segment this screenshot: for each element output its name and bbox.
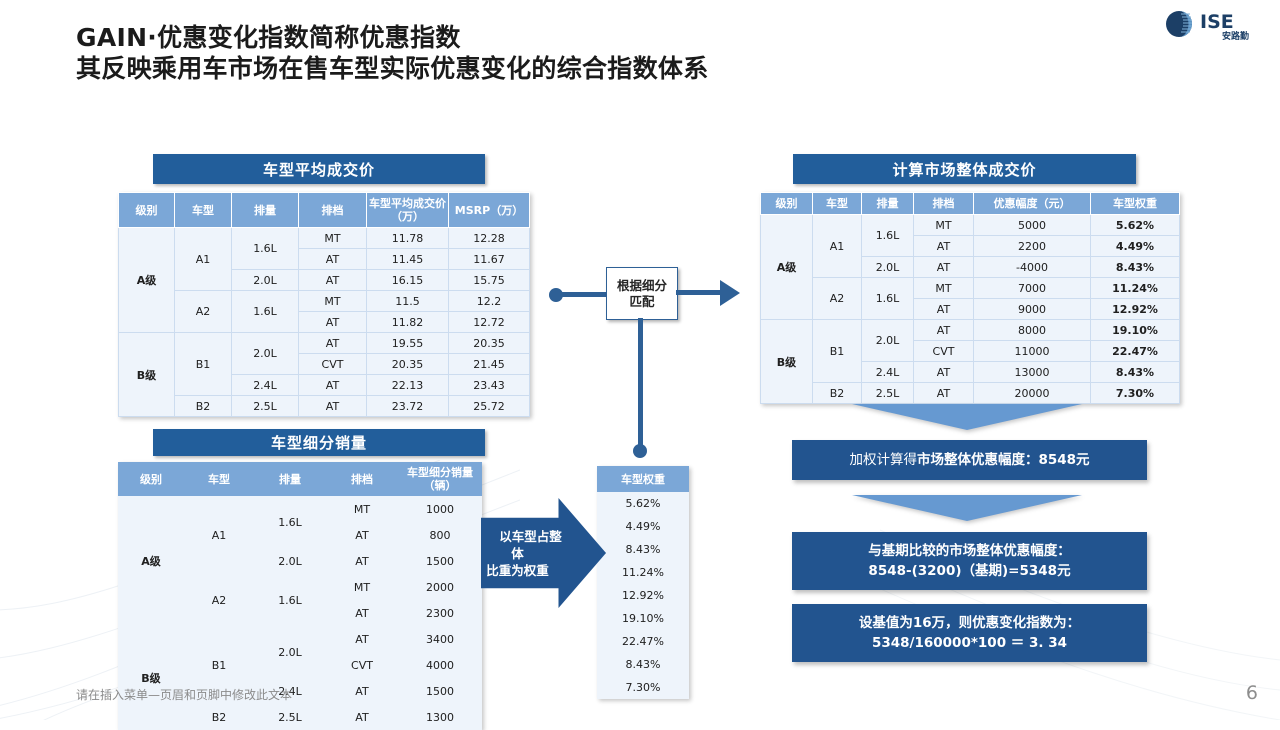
cell-gear: AT bbox=[326, 678, 398, 704]
title-line-1: GAIN·优惠变化指数简称优惠指数 bbox=[76, 23, 461, 52]
result-1-text-normal: 加权计算得 bbox=[849, 452, 917, 468]
cell-model: A1 bbox=[184, 496, 254, 574]
cell-gear: MT bbox=[914, 278, 974, 299]
col-level: 级别 bbox=[119, 193, 175, 228]
cell-weight: 8.43% bbox=[597, 538, 689, 561]
cell-gear: AT bbox=[299, 249, 367, 270]
match-rule-line1: 根据细分 bbox=[617, 278, 667, 293]
cell-sales: 1300 bbox=[398, 704, 482, 730]
cell-discount: 5000 bbox=[974, 215, 1091, 236]
cell-price: 11.82 bbox=[367, 312, 449, 333]
result-box-base-comparison: 与基期比较的市场整体优惠幅度： 8548-(3200)（基期)=5348元 bbox=[792, 532, 1147, 590]
cell-msrp: 12.72 bbox=[449, 312, 530, 333]
cell-price: 11.45 bbox=[367, 249, 449, 270]
cell-displacement: 2.0L bbox=[862, 257, 914, 278]
col-segment-sales-l2: （辆） bbox=[424, 479, 457, 492]
cell-price: 19.55 bbox=[367, 333, 449, 354]
cell-discount: 20000 bbox=[974, 383, 1091, 404]
cell-weight: 8.43% bbox=[1091, 257, 1180, 278]
cell-gear: MT bbox=[914, 215, 974, 236]
cell-msrp: 15.75 bbox=[449, 270, 530, 291]
cell-displacement: 2.5L bbox=[862, 383, 914, 404]
cell-weight: 19.10% bbox=[597, 607, 689, 630]
cell-gear: CVT bbox=[299, 354, 367, 375]
cell-gear: AT bbox=[914, 299, 974, 320]
cell-msrp: 23.43 bbox=[449, 375, 530, 396]
table-row: B级B12.0LAT19.5520.35 bbox=[119, 333, 530, 354]
cell-gear: AT bbox=[326, 704, 398, 730]
cell-sales: 800 bbox=[398, 522, 482, 548]
cell-gear: AT bbox=[914, 257, 974, 278]
cell-gear: AT bbox=[914, 236, 974, 257]
cell-weight: 4.49% bbox=[1091, 236, 1180, 257]
col-weight: 车型权重 bbox=[1091, 193, 1180, 215]
cell-discount: 2200 bbox=[974, 236, 1091, 257]
cell-model: A1 bbox=[175, 228, 232, 291]
cell-weight: 8.43% bbox=[1091, 362, 1180, 383]
cell-discount: -4000 bbox=[974, 257, 1091, 278]
flow-arrow-down-1 bbox=[852, 404, 1082, 430]
cell-price: 20.35 bbox=[367, 354, 449, 375]
cell-weight: 19.10% bbox=[1091, 320, 1180, 341]
cell-model: A1 bbox=[813, 215, 862, 278]
cell-displacement: 1.6L bbox=[862, 278, 914, 320]
weight-rule-line2: 比重为权重 bbox=[486, 563, 549, 578]
cell-price: 22.13 bbox=[367, 375, 449, 396]
cell-model: B2 bbox=[184, 704, 254, 730]
cell-weight: 7.30% bbox=[597, 676, 689, 699]
cell-discount: 7000 bbox=[974, 278, 1091, 299]
result-box-index-value: 设基值为16万，则优惠变化指数为： 5348/160000*100 ＝ 3. 3… bbox=[792, 604, 1147, 662]
cell-model: A2 bbox=[813, 278, 862, 320]
table-row: A级A11.6LMT1000 bbox=[118, 496, 482, 522]
cell-level: B级 bbox=[761, 320, 813, 404]
sales-table-title-bar: 车型细分销量 bbox=[153, 429, 485, 456]
cell-gear: CVT bbox=[326, 652, 398, 678]
table-row: A级A11.6LMT50005.62% bbox=[761, 215, 1180, 236]
col-model: 车型 bbox=[184, 462, 254, 496]
price-table-header-row: 级别 车型 排量 排档 车型平均成交价（万） MSRP（万） bbox=[119, 193, 530, 228]
ise-logo: ISE 安路勤 bbox=[1162, 6, 1266, 42]
cell-displacement: 1.6L bbox=[232, 291, 299, 333]
cell-sales: 3400 bbox=[398, 626, 482, 652]
cell-weight: 5.62% bbox=[1091, 215, 1180, 236]
cell-displacement: 1.6L bbox=[254, 496, 326, 548]
cell-price: 16.15 bbox=[367, 270, 449, 291]
col-gear: 排档 bbox=[326, 462, 398, 496]
cell-weight: 4.49% bbox=[597, 515, 689, 538]
cell-msrp: 12.28 bbox=[449, 228, 530, 249]
col-gear: 排档 bbox=[914, 193, 974, 215]
col-segment-sales-l1: 车型细分销量 bbox=[407, 466, 473, 479]
cell-weight: 22.47% bbox=[597, 630, 689, 653]
table-row: B级B12.0LAT3400 bbox=[118, 626, 482, 652]
cell-gear: AT bbox=[299, 312, 367, 333]
result-2-line1: 与基期比较的市场整体优惠幅度： bbox=[868, 543, 1071, 559]
cell-displacement: 2.0L bbox=[254, 626, 326, 678]
market-table-header-row: 级别 车型 排量 排档 优惠幅度（元） 车型权重 bbox=[761, 193, 1180, 215]
col-level: 级别 bbox=[761, 193, 813, 215]
flow-arrow-down-2 bbox=[852, 495, 1082, 521]
weight-strip-row: 19.10% bbox=[597, 607, 689, 630]
col-model: 车型 bbox=[813, 193, 862, 215]
result-2-line2: 8548-(3200)（基期)=5348元 bbox=[868, 563, 1070, 579]
cell-gear: MT bbox=[299, 291, 367, 312]
table-row: B22.5LAT200007.30% bbox=[761, 383, 1180, 404]
logo-text: ISE bbox=[1200, 11, 1234, 33]
col-displacement: 排量 bbox=[254, 462, 326, 496]
cell-weight: 22.47% bbox=[1091, 341, 1180, 362]
cell-msrp: 21.45 bbox=[449, 354, 530, 375]
cell-displacement: 1.6L bbox=[232, 228, 299, 270]
cell-price: 23.72 bbox=[367, 396, 449, 417]
cell-model: B1 bbox=[175, 333, 232, 396]
cell-weight: 8.43% bbox=[597, 653, 689, 676]
market-table-title-bar: 计算市场整体成交价 bbox=[793, 154, 1136, 184]
price-table: 级别 车型 排量 排档 车型平均成交价（万） MSRP（万） A级A11.6LM… bbox=[118, 192, 530, 417]
weight-rule-line1: 以车型占整体 bbox=[499, 529, 562, 561]
weight-rule-arrow: 以车型占整体 比重为权重 bbox=[481, 498, 606, 608]
result-3-line2: 5348/160000*100 ＝ 3. 34 bbox=[872, 635, 1067, 651]
connector-line-right bbox=[676, 290, 722, 295]
result-3-line1: 设基值为16万，则优惠变化指数为： bbox=[859, 615, 1080, 631]
sales-table-title: 车型细分销量 bbox=[271, 432, 367, 453]
col-model: 车型 bbox=[175, 193, 232, 228]
cell-discount: 9000 bbox=[974, 299, 1091, 320]
weight-strip-row: 12.92% bbox=[597, 584, 689, 607]
table-row: B22.5LAT23.7225.72 bbox=[119, 396, 530, 417]
table-row: A级A11.6LMT11.7812.28 bbox=[119, 228, 530, 249]
market-table-title: 计算市场整体成交价 bbox=[892, 159, 1036, 180]
cell-displacement: 2.0L bbox=[232, 270, 299, 291]
weight-strip-header: 车型权重 bbox=[597, 466, 689, 492]
page-number: 6 bbox=[1246, 682, 1258, 704]
table-row: A21.6LMT700011.24% bbox=[761, 278, 1180, 299]
cell-gear: MT bbox=[299, 228, 367, 249]
connector-arrow-head bbox=[720, 280, 740, 306]
price-table-title: 车型平均成交价 bbox=[263, 159, 375, 180]
cell-weight: 12.92% bbox=[597, 584, 689, 607]
connector-line-down bbox=[638, 318, 643, 450]
weight-strip-table: 车型权重 5.62%4.49%8.43%11.24%12.92%19.10%22… bbox=[597, 466, 689, 699]
col-level: 级别 bbox=[118, 462, 184, 496]
cell-displacement: 2.0L bbox=[254, 548, 326, 574]
cell-model: B1 bbox=[813, 320, 862, 383]
cell-msrp: 12.2 bbox=[449, 291, 530, 312]
cell-sales: 2000 bbox=[398, 574, 482, 600]
cell-sales: 1500 bbox=[398, 548, 482, 574]
cell-weight: 11.24% bbox=[597, 561, 689, 584]
cell-sales: 1500 bbox=[398, 678, 482, 704]
cell-displacement: 2.4L bbox=[232, 375, 299, 396]
cell-sales: 1000 bbox=[398, 496, 482, 522]
cell-model: A2 bbox=[175, 291, 232, 333]
cell-gear: AT bbox=[914, 383, 974, 404]
cell-sales: 4000 bbox=[398, 652, 482, 678]
weight-strip-row: 4.49% bbox=[597, 515, 689, 538]
connector-end-dot bbox=[633, 444, 647, 458]
col-avg-price: 车型平均成交价（万） bbox=[367, 193, 449, 228]
weight-strip-row: 8.43% bbox=[597, 538, 689, 561]
col-gear: 排档 bbox=[299, 193, 367, 228]
match-rule-box: 根据细分 匹配 bbox=[606, 267, 678, 320]
cell-gear: MT bbox=[326, 496, 398, 522]
match-rule-line2: 匹配 bbox=[629, 294, 654, 309]
cell-weight: 12.92% bbox=[1091, 299, 1180, 320]
cell-gear: AT bbox=[299, 396, 367, 417]
cell-msrp: 20.35 bbox=[449, 333, 530, 354]
cell-level: A级 bbox=[119, 228, 175, 333]
col-displacement: 排量 bbox=[232, 193, 299, 228]
cell-gear: AT bbox=[914, 320, 974, 341]
cell-gear: MT bbox=[326, 574, 398, 600]
cell-msrp: 11.67 bbox=[449, 249, 530, 270]
col-msrp: MSRP（万） bbox=[449, 193, 530, 228]
price-table-title-bar: 车型平均成交价 bbox=[153, 154, 485, 184]
weight-strip-row: 11.24% bbox=[597, 561, 689, 584]
cell-discount: 8000 bbox=[974, 320, 1091, 341]
cell-model: A2 bbox=[184, 574, 254, 626]
market-table-body: A级A11.6LMT50005.62%AT22004.49%2.0LAT-400… bbox=[761, 215, 1180, 404]
result-1-text-bold: 市场整体优惠幅度：8548元 bbox=[917, 452, 1090, 468]
cell-gear: CVT bbox=[914, 341, 974, 362]
cell-displacement: 2.0L bbox=[232, 333, 299, 375]
cell-gear: AT bbox=[326, 522, 398, 548]
cell-gear: AT bbox=[326, 600, 398, 626]
weight-strip-row: 8.43% bbox=[597, 653, 689, 676]
sales-table-header-row: 级别 车型 排量 排档 车型细分销量 （辆） bbox=[118, 462, 482, 496]
cell-sales: 2300 bbox=[398, 600, 482, 626]
price-table-body: A级A11.6LMT11.7812.28AT11.4511.672.0LAT16… bbox=[119, 228, 530, 417]
page-title: GAIN·优惠变化指数简称优惠指数 其反映乘用车市场在售车型实际优惠变化的综合指… bbox=[76, 22, 976, 84]
cell-weight: 11.24% bbox=[1091, 278, 1180, 299]
table-row: B级B12.0LAT800019.10% bbox=[761, 320, 1180, 341]
cell-discount: 11000 bbox=[974, 341, 1091, 362]
weight-strip-row: 5.62% bbox=[597, 492, 689, 515]
cell-level: A级 bbox=[118, 496, 184, 626]
cell-price: 11.78 bbox=[367, 228, 449, 249]
footer-text: 请在插入菜单—页眉和页脚中修改此文本 bbox=[76, 686, 292, 703]
cell-model: B2 bbox=[813, 383, 862, 404]
cell-weight: 7.30% bbox=[1091, 383, 1180, 404]
weight-strip-body: 5.62%4.49%8.43%11.24%12.92%19.10%22.47%8… bbox=[597, 492, 689, 699]
cell-displacement: 1.6L bbox=[254, 574, 326, 626]
table-row: A21.6LMT11.512.2 bbox=[119, 291, 530, 312]
cell-gear: AT bbox=[299, 375, 367, 396]
cell-model: B2 bbox=[175, 396, 232, 417]
cell-level: B级 bbox=[118, 626, 184, 730]
cell-discount: 13000 bbox=[974, 362, 1091, 383]
cell-gear: AT bbox=[326, 548, 398, 574]
cell-displacement: 2.0L bbox=[862, 320, 914, 362]
cell-displacement: 2.5L bbox=[232, 396, 299, 417]
col-segment-sales: 车型细分销量 （辆） bbox=[398, 462, 482, 496]
cell-level: B级 bbox=[119, 333, 175, 417]
col-displacement: 排量 bbox=[862, 193, 914, 215]
cell-gear: AT bbox=[914, 362, 974, 383]
slide-canvas: GAIN·优惠变化指数简称优惠指数 其反映乘用车市场在售车型实际优惠变化的综合指… bbox=[0, 0, 1280, 720]
cell-displacement: 2.4L bbox=[862, 362, 914, 383]
connector-line-left bbox=[560, 292, 608, 297]
weight-strip-row: 7.30% bbox=[597, 676, 689, 699]
cell-displacement: 2.5L bbox=[254, 704, 326, 730]
title-line-2: 其反映乘用车市场在售车型实际优惠变化的综合指数体系 bbox=[76, 53, 976, 84]
cell-gear: AT bbox=[326, 626, 398, 652]
cell-price: 11.5 bbox=[367, 291, 449, 312]
result-box-weighted-discount: 加权计算得市场整体优惠幅度：8548元 bbox=[792, 440, 1147, 480]
cell-gear: AT bbox=[299, 333, 367, 354]
cell-msrp: 25.72 bbox=[449, 396, 530, 417]
logo-subtext: 安路勤 bbox=[1222, 30, 1249, 42]
col-discount: 优惠幅度（元） bbox=[974, 193, 1091, 215]
cell-level: A级 bbox=[761, 215, 813, 320]
weight-strip-row: 22.47% bbox=[597, 630, 689, 653]
cell-displacement: 1.6L bbox=[862, 215, 914, 257]
cell-gear: AT bbox=[299, 270, 367, 291]
market-table: 级别 车型 排量 排档 优惠幅度（元） 车型权重 A级A11.6LMT50005… bbox=[760, 192, 1180, 404]
cell-weight: 5.62% bbox=[597, 492, 689, 515]
